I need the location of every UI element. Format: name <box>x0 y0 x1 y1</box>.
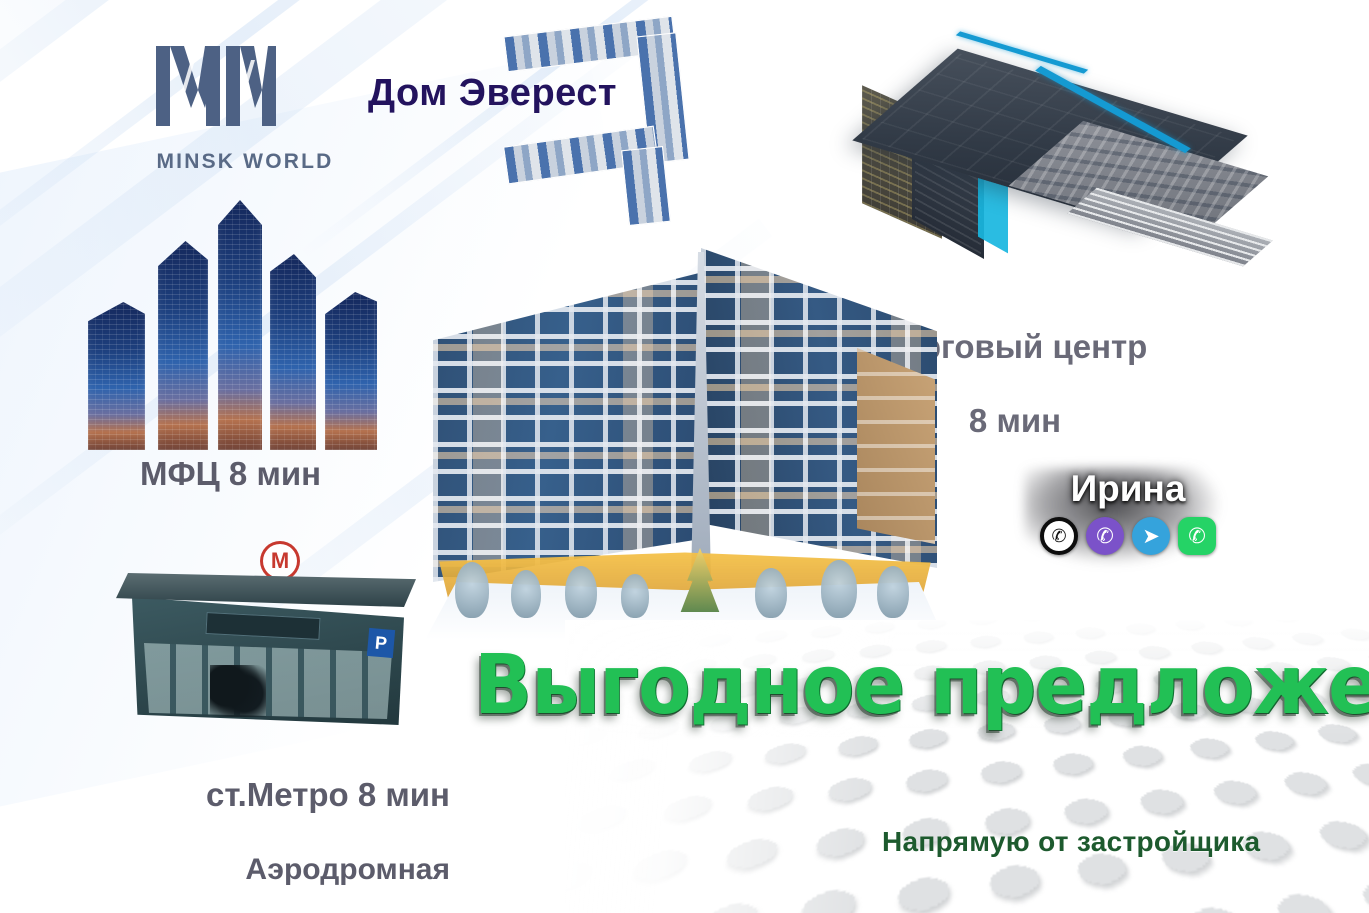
tower <box>325 292 377 450</box>
snowy-tree <box>455 562 489 618</box>
metro-sign-letter: М <box>260 541 300 581</box>
tagline-developer: Напрямую от застройщика <box>882 826 1260 858</box>
telegram-icon[interactable]: ➤ <box>1132 517 1170 555</box>
whatsapp-icon[interactable]: ✆ <box>1178 517 1216 555</box>
label-metro-line2: Аэродромная <box>150 853 450 887</box>
snowy-tree <box>511 570 541 618</box>
lit-windows <box>433 272 703 582</box>
headline-offer: Выгодное предложение <box>474 638 1369 733</box>
agent-name: Ирина <box>1028 470 1228 507</box>
plan-block <box>621 146 671 226</box>
pedestrians <box>210 665 266 717</box>
label-mfc: МФЦ 8 мин <box>140 456 321 493</box>
metro-station-image: М P <box>110 535 440 735</box>
label-metro: ст.Метро 8 мин Аэродромная <box>150 740 450 913</box>
label-everest: Дом Эверест <box>368 72 617 115</box>
brand-name: MINSK WORLD <box>150 150 340 174</box>
snowy-tree <box>877 566 909 618</box>
contact-block: Ирина ✆ ✆ ➤ ✆ <box>1028 470 1228 570</box>
phone-icon[interactable]: ✆ <box>1040 517 1078 555</box>
promo-poster: MINSK WORLD Дом Эверест Торговый центр 8… <box>0 0 1369 913</box>
tower <box>270 254 316 450</box>
viber-icon[interactable]: ✆ <box>1086 517 1124 555</box>
label-metro-line1: ст.Метро 8 мин <box>150 777 450 814</box>
snowy-tree <box>621 574 649 618</box>
building-left-facade <box>433 272 703 582</box>
main-building-image <box>425 230 945 640</box>
snowy-tree <box>755 568 787 618</box>
tower <box>158 241 208 450</box>
tower <box>218 200 262 450</box>
snowy-tree <box>565 566 597 618</box>
metro-glass-doors <box>144 643 392 719</box>
minsk-world-logo: MINSK WORLD <box>150 38 340 198</box>
snowy-tree <box>821 560 857 618</box>
everest-site-plan-image <box>505 8 700 223</box>
building-tan-section <box>857 348 935 544</box>
metro-m-sign-icon: М <box>260 541 300 581</box>
contact-icons: ✆ ✆ ➤ ✆ <box>1028 517 1228 555</box>
mw-monogram-icon <box>150 38 280 133</box>
parking-sign-icon: P <box>367 628 395 658</box>
tower <box>88 302 145 450</box>
mfc-towers-image <box>70 200 400 450</box>
